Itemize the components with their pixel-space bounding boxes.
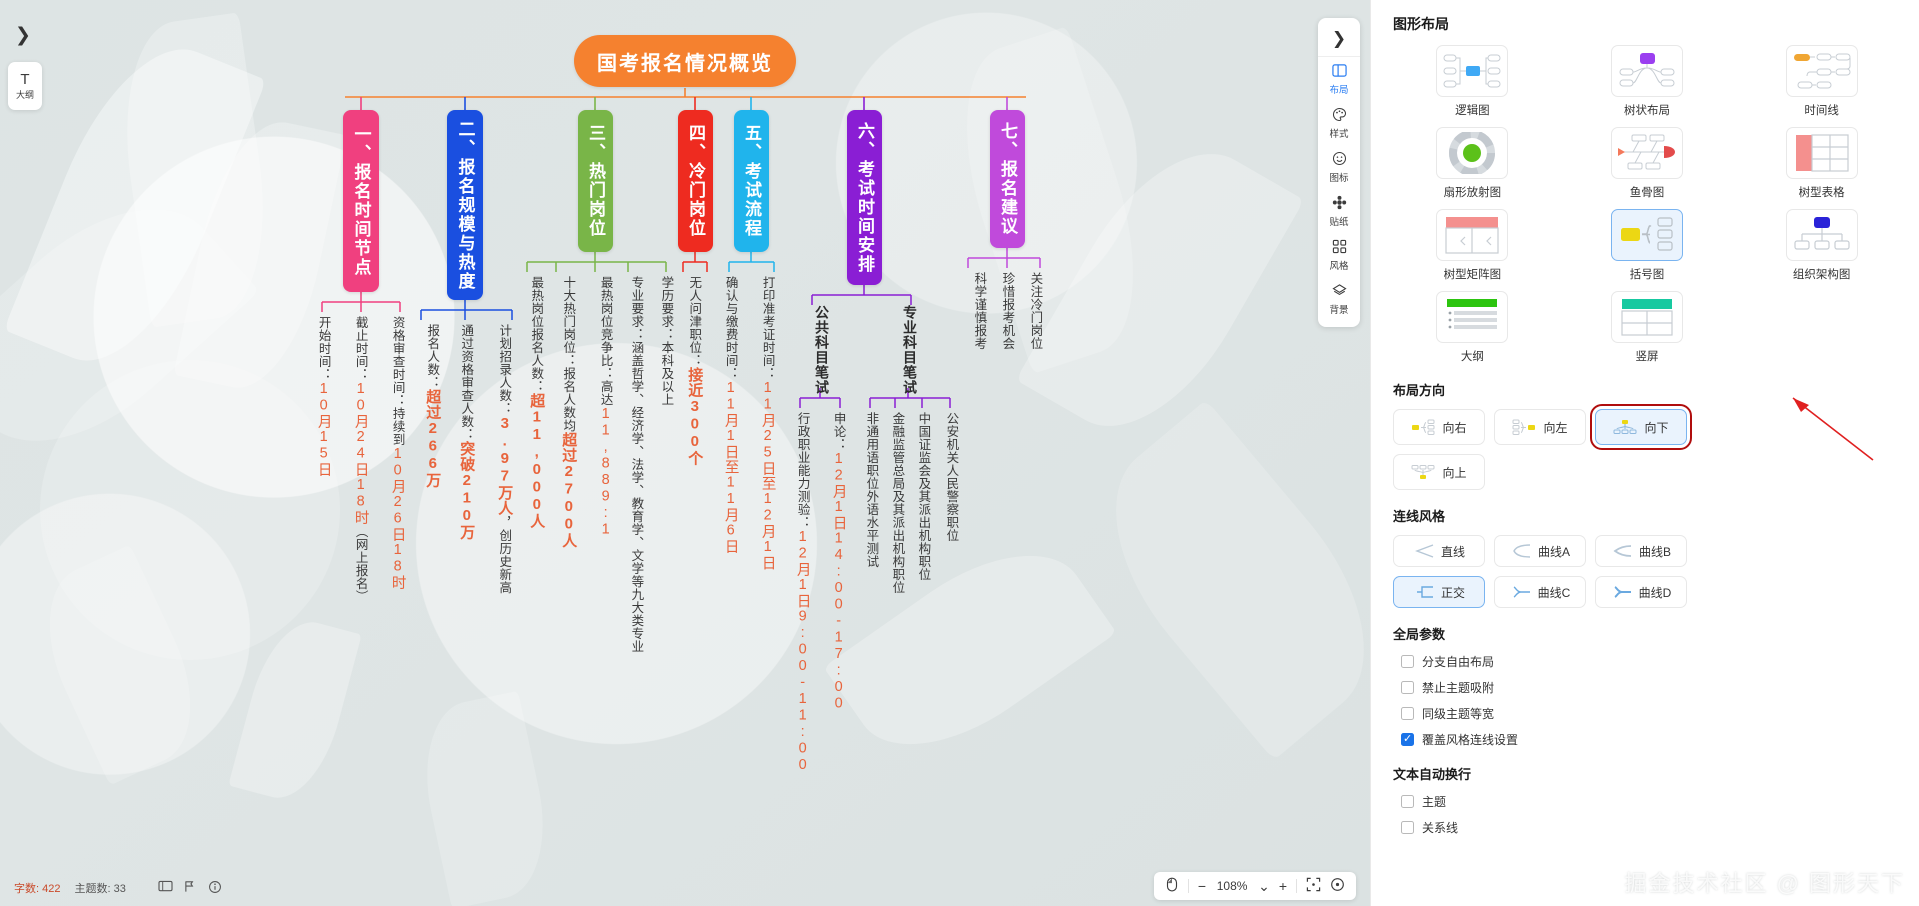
leaf-node[interactable]: 珍惜报考机会 xyxy=(1000,272,1014,350)
layout-thumb xyxy=(1786,45,1858,97)
leaf-tail: ，创历史新高 xyxy=(497,516,511,594)
leaf-label: 金融监管总局及其派出机构职位 xyxy=(890,412,904,594)
leaf-node[interactable]: 公安机关人民警察职位 xyxy=(944,412,958,542)
rail-item-label: 布局 xyxy=(1329,82,1348,96)
leaf-value: 10月24日18时 xyxy=(353,381,369,525)
leaf-decoration xyxy=(40,360,340,660)
leaf-label: 报名人数： xyxy=(425,324,439,389)
rail-item-label: 图标 xyxy=(1329,170,1348,184)
direction-section-title: 布局方向 xyxy=(1393,380,1901,399)
layout-label: 大纲 xyxy=(1461,348,1484,364)
checkbox-branch-free-layout[interactable]: 分支自由布局 xyxy=(1401,653,1901,670)
rail-item-sticker[interactable]: 贴纸 xyxy=(1318,189,1360,233)
layout-thumb xyxy=(1786,127,1858,179)
direction-up-icon xyxy=(1411,464,1435,480)
line-label: 曲线D xyxy=(1639,584,1672,601)
layout-option-org-chart[interactable]: 组织架构图 xyxy=(1742,209,1901,282)
leaf-label: 中国证监会及其派出机构职位 xyxy=(916,412,930,581)
rail-item-background[interactable]: 背景 xyxy=(1318,277,1360,321)
leaf-node[interactable]: 最热岗位报名人数：超11,000人 xyxy=(528,276,545,529)
checkbox-wrap-relation-line[interactable]: 关系线 xyxy=(1401,819,1901,836)
leaf-label: 资格审查时间：持续到 xyxy=(391,316,405,446)
layout-label: 逻辑图 xyxy=(1455,102,1490,118)
line-curve-a-icon xyxy=(1510,544,1532,558)
layout-thumb xyxy=(1611,209,1683,261)
sticker-icon xyxy=(1332,195,1347,213)
checkbox-label: 覆盖风格连线设置 xyxy=(1422,731,1518,748)
leaf-node[interactable]: 中国证监会及其派出机构职位 xyxy=(916,412,930,581)
outline-label: 大纲 xyxy=(16,88,34,101)
outline-icon: T xyxy=(20,72,29,87)
info-icon[interactable] xyxy=(208,880,222,897)
rail-item-layout[interactable]: 布局 xyxy=(1318,57,1360,101)
layout-option-timeline[interactable]: 时间线 xyxy=(1742,45,1901,118)
line-section-title: 连线风格 xyxy=(1393,506,1901,525)
layout-label: 括号图 xyxy=(1630,266,1665,282)
direction-label: 向右 xyxy=(1442,419,1466,436)
checkbox-label: 同级主题等宽 xyxy=(1422,705,1494,722)
direction-label: 向下 xyxy=(1644,419,1668,436)
layout-label: 树型矩阵图 xyxy=(1444,266,1502,282)
leaf-label: 最热岗位竞争比：高达 xyxy=(599,276,613,406)
rail-item-style[interactable]: 样式 xyxy=(1318,101,1360,145)
rail-item-label: 贴纸 xyxy=(1329,214,1348,228)
global-section-title: 全局参数 xyxy=(1393,624,1901,643)
layout-thumb xyxy=(1786,209,1858,261)
leaf-node[interactable]: 确认与缴费时间：11月1日至11月6日 xyxy=(722,276,739,554)
chevron-right-icon: ❯ xyxy=(15,24,31,47)
leaf-node[interactable]: 计划招录人数：3.97万人，创历史新高 xyxy=(496,324,513,594)
rail-item-label: 背景 xyxy=(1329,302,1348,316)
layout-thumb xyxy=(1436,45,1508,97)
line-straight-icon xyxy=(1413,544,1435,558)
layout-option-tree-layout[interactable]: 树状布局 xyxy=(1568,45,1727,118)
rail-item-icons[interactable]: 图标 xyxy=(1318,145,1360,189)
direction-row-1: 向右 向左 向下 xyxy=(1393,409,1901,445)
direction-label: 向上 xyxy=(1442,464,1466,481)
leaf-node[interactable]: 非通用语职位外语水平测试 xyxy=(864,412,878,568)
leaf-decoration xyxy=(228,611,362,808)
line-label: 曲线B xyxy=(1639,543,1671,560)
leaf-value: 11月1日至11月6日 xyxy=(723,380,739,554)
layout-option-logic-diagram[interactable]: 逻辑图 xyxy=(1393,45,1552,118)
checkbox-disable-topic-snap[interactable]: 禁止主题吸附 xyxy=(1401,679,1901,696)
layout-label: 树型表格 xyxy=(1799,184,1845,200)
layout-grid: 逻辑图 树状布局 xyxy=(1393,45,1901,364)
leaf-label: 无人问津职位： xyxy=(687,276,701,367)
checkbox-box[interactable] xyxy=(1401,707,1414,720)
leaf-label: 通过资格审查人数： xyxy=(459,324,473,441)
leaf-label: 公安机关人民警察职位 xyxy=(944,412,958,542)
leaf-value: 突破210万 xyxy=(458,441,475,540)
checkbox-label: 禁止主题吸附 xyxy=(1422,679,1494,696)
line-row-1: 直线 曲线A 曲线B xyxy=(1393,535,1901,567)
leaf-value: 超11,000人 xyxy=(528,393,545,529)
leaf-label: 学历要求：本科及以上 xyxy=(659,276,673,406)
leaf-value: 接近300个 xyxy=(686,367,703,466)
layout-thumb xyxy=(1436,291,1508,343)
leaf-value: 12月1日14:00-17:00 xyxy=(831,451,847,712)
leaf-label: 开始时间： xyxy=(317,316,331,381)
line-curve-b-icon xyxy=(1611,544,1633,558)
layout-label: 时间线 xyxy=(1804,102,1839,118)
branch-node-3[interactable]: 三、热门岗位 xyxy=(578,110,613,252)
branch-node-5[interactable]: 五、考试流程 xyxy=(734,110,769,252)
layout-label: 树状布局 xyxy=(1624,102,1670,118)
leaf-label: 珍惜报考机会 xyxy=(1000,272,1014,350)
line-row-2: 正交 曲线C 曲线D xyxy=(1393,576,1901,608)
leaf-node[interactable]: 科学谨慎报考 xyxy=(972,272,986,350)
status-bar: 字数: 422 主题数: 33 xyxy=(0,870,1370,906)
leaf-value: 超过266万 xyxy=(424,389,441,488)
line-curve-c-icon xyxy=(1510,585,1532,599)
branch-node-6[interactable]: 六、考试时间安排 xyxy=(847,110,882,285)
sidebar-collapse-button[interactable]: ❯ xyxy=(8,18,38,52)
leaf-node[interactable]: 专业要求：涵盖哲学、经济学、法学、教育学、文学等九大类专业 xyxy=(629,276,643,653)
mindmap-canvas[interactable]: 国考报名情况概览 一、报名时间节点 二、报名规模与热度 三、热门岗位 四、冷门岗… xyxy=(0,0,1370,906)
checkbox-wrap-topic[interactable]: 主题 xyxy=(1401,793,1901,810)
leaf-label: 关注冷门岗位 xyxy=(1028,272,1042,350)
line-option-orthogonal[interactable]: 正交 xyxy=(1393,576,1485,608)
checkbox-label: 关系线 xyxy=(1422,819,1458,836)
leaf-decoration xyxy=(4,24,267,386)
view-mode-icon[interactable] xyxy=(158,880,173,896)
layout-option-radial-fan[interactable]: 扇形放射图 xyxy=(1393,127,1552,200)
layout-label: 扇形放射图 xyxy=(1444,184,1502,200)
layout-option-tree-table[interactable]: 树型表格 xyxy=(1742,127,1901,200)
panel-title: 图形布局 xyxy=(1393,14,1901,34)
layout-option-vertical-screen[interactable]: 竖屏 xyxy=(1568,291,1727,364)
leaf-decoration xyxy=(21,544,219,785)
leaf-node[interactable]: 报名人数：超过266万 xyxy=(424,324,441,488)
line-label: 正交 xyxy=(1441,584,1465,601)
layout-option-outline[interactable]: 大纲 xyxy=(1393,291,1552,364)
leaf-value: 超过2700人 xyxy=(560,432,577,549)
direction-down-icon xyxy=(1613,419,1637,435)
line-option-curve-c[interactable]: 曲线C xyxy=(1494,576,1586,608)
flag-icon[interactable] xyxy=(183,880,198,896)
palette-icon xyxy=(1332,107,1347,125)
leaf-decoration xyxy=(0,165,260,485)
checkbox-equal-width-siblings[interactable]: 同级主题等宽 xyxy=(1401,705,1901,722)
leaf-value: 12月1日9:00-11:00 xyxy=(795,529,811,774)
checkbox-box[interactable] xyxy=(1401,821,1414,834)
group-node-public-exam[interactable]: 公共科目笔试 xyxy=(812,305,832,395)
leaf-label: 确认与缴费时间： xyxy=(724,276,738,380)
leaf-node[interactable]: 通过资格审查人数：突破210万 xyxy=(458,324,475,540)
leaf-label: 申论： xyxy=(832,412,846,451)
leaf-decoration xyxy=(934,26,1166,374)
leaf-node[interactable]: 最热岗位竞争比：高达11,889:1 xyxy=(597,276,614,538)
leaf-value: 10月15日 xyxy=(316,381,332,477)
rail-item-label: 风格 xyxy=(1329,258,1348,272)
line-option-curve-b[interactable]: 曲线B xyxy=(1595,535,1687,567)
line-option-straight[interactable]: 直线 xyxy=(1393,535,1485,567)
leaf-decoration xyxy=(1068,400,1370,761)
checkbox-box[interactable] xyxy=(1401,795,1414,808)
leaf-node[interactable]: 行政职业能力测验：12月1日9:00-11:00 xyxy=(794,412,811,774)
rail-expand-button[interactable]: ❯ xyxy=(1318,21,1360,57)
leaf-node[interactable]: 开始时间：10月15日 xyxy=(315,316,332,477)
leaf-value: 11月25日至12月1日 xyxy=(760,380,776,571)
grid-icon xyxy=(1332,239,1347,257)
outline-panel-button[interactable]: T 大纲 xyxy=(8,62,42,110)
layout-settings-panel: 图形布局 逻辑图 xyxy=(1370,0,1919,906)
line-label: 曲线C xyxy=(1538,584,1571,601)
leaf-node[interactable]: 无人问津职位：接近300个 xyxy=(686,276,703,466)
layout-option-fishbone[interactable]: 鱼骨图 xyxy=(1568,127,1727,200)
line-curve-d-icon xyxy=(1611,585,1633,599)
direction-option-up[interactable]: 向上 xyxy=(1393,454,1485,490)
checkbox-box[interactable] xyxy=(1401,681,1414,694)
leaf-label: 截止时间： xyxy=(354,316,368,381)
leaf-decoration xyxy=(110,12,280,327)
mindmap-root-node[interactable]: 国考报名情况概览 xyxy=(574,35,796,87)
leaf-label: 行政职业能力测验： xyxy=(796,412,810,529)
leaf-label: 非通用语职位外语水平测试 xyxy=(864,412,878,568)
branch-node-2[interactable]: 二、报名规模与热度 xyxy=(447,110,483,300)
checkbox-box[interactable] xyxy=(1401,733,1414,746)
leaf-tail: （网上报名） xyxy=(354,525,368,603)
direction-row-2: 向上 xyxy=(1393,454,1901,490)
layout-option-bracket-diagram[interactable]: 括号图 xyxy=(1568,209,1727,282)
direction-option-right[interactable]: 向右 xyxy=(1393,409,1485,445)
line-option-curve-a[interactable]: 曲线A xyxy=(1494,535,1586,567)
word-count: 字数: 422 xyxy=(14,880,60,896)
leaf-value: 3.97万人 xyxy=(496,415,513,516)
line-label: 直线 xyxy=(1441,543,1465,560)
checkbox-box[interactable] xyxy=(1401,655,1414,668)
checkbox-label: 分支自由布局 xyxy=(1422,653,1494,670)
leaf-label: 十大热门岗位：报名人数均 xyxy=(561,276,575,432)
layout-thumb xyxy=(1436,127,1508,179)
direction-right-icon xyxy=(1411,419,1435,435)
leaf-label: 科学谨慎报考 xyxy=(972,272,986,350)
leaf-node[interactable]: 资格审查时间：持续到10月26日18时 xyxy=(389,316,406,590)
leaf-node[interactable]: 金融监管总局及其派出机构职位 xyxy=(890,412,904,594)
leaf-node[interactable]: 关注冷门岗位 xyxy=(1028,272,1042,350)
leaf-label: 计划招录人数： xyxy=(497,324,511,415)
wrap-section-title: 文本自动换行 xyxy=(1393,764,1901,783)
direction-option-down[interactable]: 向下 xyxy=(1595,409,1687,445)
layout-thumb xyxy=(1611,45,1683,97)
layout-icon xyxy=(1332,63,1347,81)
leaf-decoration xyxy=(1016,120,1305,460)
checkbox-override-style-lines[interactable]: 覆盖风格连线设置 xyxy=(1401,731,1901,748)
tool-rail: ❯ 布局 样式 图标 贴纸 xyxy=(1318,18,1360,327)
layers-icon xyxy=(1332,283,1347,301)
leaf-node[interactable]: 十大热门岗位：报名人数均超过2700人 xyxy=(560,276,577,549)
smiley-icon xyxy=(1332,151,1347,169)
layout-label: 组织架构图 xyxy=(1793,266,1851,282)
group-node-professional-exam[interactable]: 专业科目笔试 xyxy=(900,305,920,395)
topic-count: 主题数: 33 xyxy=(74,880,125,896)
layout-thumb xyxy=(1611,127,1683,179)
leaf-node[interactable]: 申论：12月1日14:00-17:00 xyxy=(830,412,847,712)
leaf-label: 专业要求：涵盖哲学、经济学、法学、教育学、文学等九大类专业 xyxy=(629,276,643,653)
leaf-label: 最热岗位报名人数： xyxy=(529,276,543,393)
branch-node-7[interactable]: 七、报名建议 xyxy=(990,110,1025,248)
leaf-value: 10月26日18时 xyxy=(390,446,406,590)
rail-item-label: 样式 xyxy=(1329,126,1348,140)
layout-thumb xyxy=(1436,209,1508,261)
layout-option-tree-matrix[interactable]: 树型矩阵图 xyxy=(1393,209,1552,282)
leaf-node[interactable]: 截止时间：10月24日18时（网上报名） xyxy=(352,316,369,603)
layout-thumb xyxy=(1611,291,1683,343)
leaf-node[interactable]: 学历要求：本科及以上 xyxy=(659,276,673,406)
line-option-curve-d[interactable]: 曲线D xyxy=(1595,576,1687,608)
leaf-node[interactable]: 打印准考证时间：11月25日至12月1日 xyxy=(759,276,776,571)
branch-node-1[interactable]: 一、报名时间节点 xyxy=(343,110,379,292)
branch-node-4[interactable]: 四、冷门岗位 xyxy=(678,110,713,252)
direction-option-left[interactable]: 向左 xyxy=(1494,409,1586,445)
line-orthogonal-icon xyxy=(1413,585,1435,599)
direction-label: 向左 xyxy=(1543,419,1567,436)
layout-label: 竖屏 xyxy=(1635,348,1658,364)
line-label: 曲线A xyxy=(1538,543,1570,560)
rail-item-theme[interactable]: 风格 xyxy=(1318,233,1360,277)
direction-left-icon xyxy=(1512,419,1536,435)
leaf-value: 11,889:1 xyxy=(598,406,614,538)
leaf-label: 打印准考证时间： xyxy=(761,276,775,380)
layout-label: 鱼骨图 xyxy=(1630,184,1665,200)
checkbox-label: 主题 xyxy=(1422,793,1446,810)
